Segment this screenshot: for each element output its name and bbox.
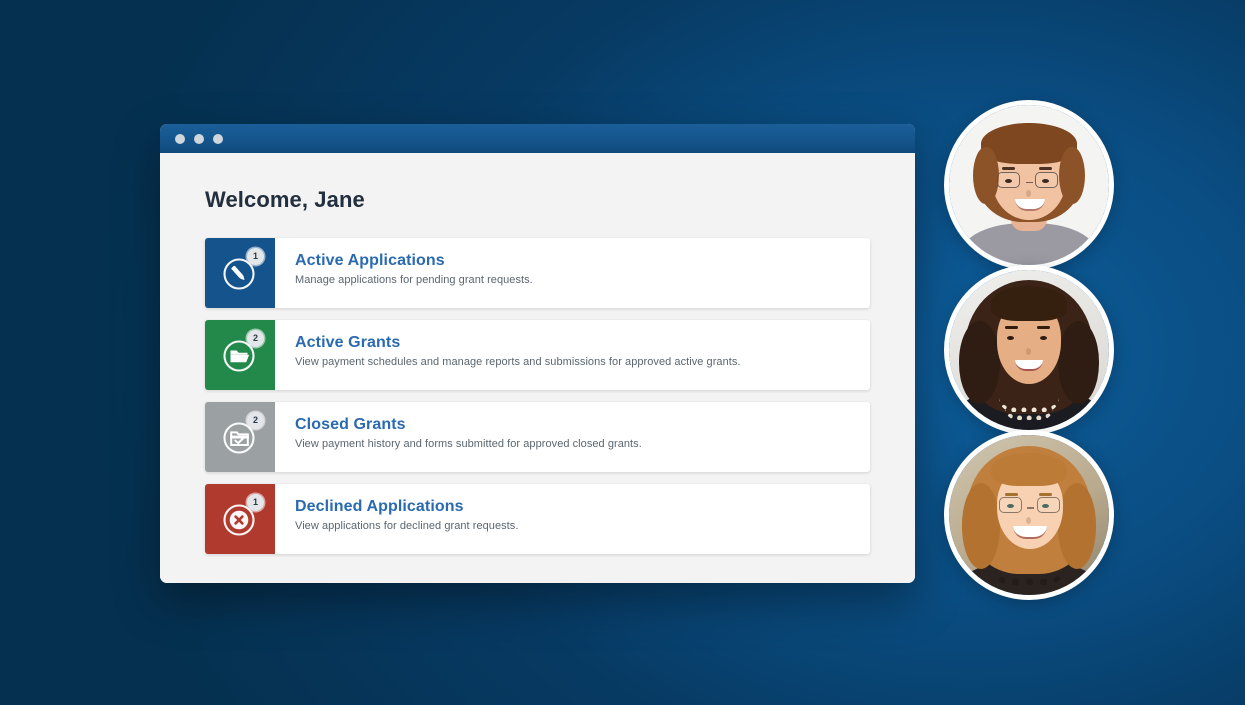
avatar-portrait-3 [944, 430, 1114, 600]
card-description: View payment history and forms submitted… [295, 438, 852, 450]
avatar-photo [949, 270, 1109, 430]
close-dot[interactable] [175, 134, 185, 144]
badge-count: 2 [247, 412, 264, 429]
tile-active-applications: 1 [205, 238, 275, 308]
tile-closed-grants: 2 [205, 402, 275, 472]
card-description: View applications for declined grant req… [295, 520, 852, 532]
card-description: View payment schedules and manage report… [295, 356, 852, 368]
card-title: Closed Grants [295, 416, 852, 434]
tile-declined-applications: 1 [205, 484, 275, 554]
card-body: Active Applications Manage applications … [275, 238, 870, 308]
card-title: Active Grants [295, 334, 852, 352]
avatar-photo [949, 435, 1109, 595]
avatar-portrait-1 [944, 100, 1114, 270]
card-closed-grants[interactable]: 2 Closed Grants View payment history and… [205, 402, 870, 472]
screen-backdrop: Welcome, Jane 1 Active Applicati [0, 0, 1245, 705]
window-titlebar [160, 124, 915, 153]
badge-count: 2 [247, 330, 264, 347]
badge-count: 1 [247, 494, 264, 511]
page-title: Welcome, Jane [205, 187, 870, 213]
minimize-dot[interactable] [194, 134, 204, 144]
card-active-applications[interactable]: 1 Active Applications Manage application… [205, 238, 870, 308]
card-body: Declined Applications View applications … [275, 484, 870, 554]
card-body: Active Grants View payment schedules and… [275, 320, 870, 390]
card-body: Closed Grants View payment history and f… [275, 402, 870, 472]
avatar-portrait-2 [944, 265, 1114, 435]
card-declined-applications[interactable]: 1 Declined Applications View application… [205, 484, 870, 554]
card-title: Active Applications [295, 252, 852, 270]
card-description: Manage applications for pending grant re… [295, 274, 852, 286]
card-active-grants[interactable]: 2 Active Grants View payment schedules a… [205, 320, 870, 390]
avatar-photo [949, 105, 1109, 265]
browser-window: Welcome, Jane 1 Active Applicati [160, 124, 915, 583]
tile-active-grants: 2 [205, 320, 275, 390]
badge-count: 1 [247, 248, 264, 265]
maximize-dot[interactable] [213, 134, 223, 144]
card-title: Declined Applications [295, 498, 852, 516]
window-viewport: Welcome, Jane 1 Active Applicati [160, 153, 915, 583]
